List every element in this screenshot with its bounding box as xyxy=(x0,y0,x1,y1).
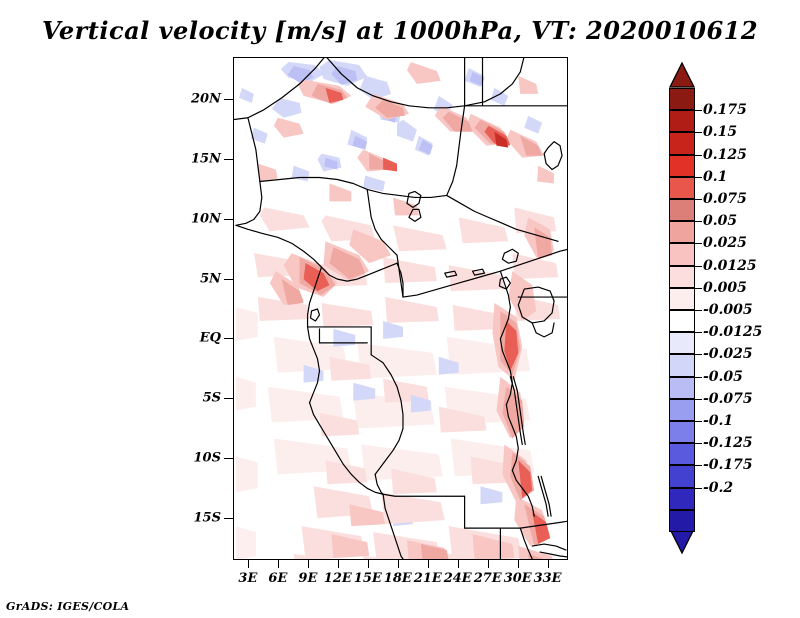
colorbar-arrow-top xyxy=(669,62,695,88)
colorbar-tick-13 xyxy=(695,399,702,400)
colorbar-label-11: -0.025 xyxy=(703,346,753,362)
x-label-27E: 27E xyxy=(474,571,502,586)
colorbar-tick-9 xyxy=(695,310,702,311)
y-tick-10S xyxy=(224,458,233,459)
colorbar-band-19 xyxy=(669,510,695,532)
x-label-9E: 9E xyxy=(298,571,317,586)
colorbar-label-6: 0.025 xyxy=(703,235,747,251)
x-label-15E: 15E xyxy=(354,571,382,586)
x-label-12E: 12E xyxy=(324,571,352,586)
colorbar-tick-2 xyxy=(695,155,702,156)
colorbar-tick-7 xyxy=(695,266,702,267)
colorbar-band-1 xyxy=(669,110,695,132)
x-tick-12E xyxy=(338,560,339,568)
colorbar-band-18 xyxy=(669,488,695,510)
y-label-15S: 15S xyxy=(194,511,221,526)
x-tick-18E xyxy=(398,560,399,568)
x-tick-27E xyxy=(488,560,489,568)
x-tick-21E xyxy=(428,560,429,568)
colorbar-band-17 xyxy=(669,465,695,487)
colorbar-band-7 xyxy=(669,243,695,265)
colorbar-band-13 xyxy=(669,377,695,399)
colorbar-band-8 xyxy=(669,266,695,288)
y-tick-5N xyxy=(224,279,233,280)
colorbar-band-4 xyxy=(669,177,695,199)
y-tick-10N xyxy=(224,219,233,220)
colorbar-label-4: 0.075 xyxy=(703,191,747,207)
colorbar-label-7: 0.0125 xyxy=(703,258,757,274)
map-plot: 20N 15N 10N 5N EQ 5S 10S 15S 3E 6E 9E 12… xyxy=(233,57,568,560)
colorbar-label-12: -0.05 xyxy=(703,369,743,385)
colorbar-label-10: -0.0125 xyxy=(703,324,762,340)
colorbar-label-5: 0.05 xyxy=(703,213,737,229)
x-tick-3E xyxy=(248,560,249,568)
colorbar: 0.1750.150.1250.10.0750.050.0250.01250.0… xyxy=(669,62,695,554)
x-tick-15E xyxy=(368,560,369,568)
colorbar-tick-6 xyxy=(695,243,702,244)
colorbar-band-15 xyxy=(669,421,695,443)
colorbar-band-16 xyxy=(669,443,695,465)
colorbar-tick-4 xyxy=(695,199,702,200)
colorbar-label-0: 0.175 xyxy=(703,102,747,118)
grads-attribution: GrADS: IGES/COLA xyxy=(6,600,129,613)
colorbar-label-14: -0.1 xyxy=(703,413,733,429)
y-label-EQ: EQ xyxy=(200,331,221,346)
y-label-5S: 5S xyxy=(203,391,221,406)
colorbar-label-8: 0.005 xyxy=(703,280,747,296)
colorbar-tick-16 xyxy=(695,465,702,466)
colorbar-tick-12 xyxy=(695,377,702,378)
x-tick-33E xyxy=(548,560,549,568)
x-tick-9E xyxy=(308,560,309,568)
y-tick-20N xyxy=(224,99,233,100)
page-title: Vertical velocity [m/s] at 1000hPa, VT: … xyxy=(0,16,800,45)
y-label-15N: 15N xyxy=(191,151,221,166)
x-label-24E: 24E xyxy=(444,571,472,586)
colorbar-band-0 xyxy=(669,88,695,110)
x-label-3E: 3E xyxy=(238,571,257,586)
y-tick-15N xyxy=(224,159,233,160)
y-label-10S: 10S xyxy=(194,451,221,466)
x-label-6E: 6E xyxy=(268,571,287,586)
x-tick-6E xyxy=(278,560,279,568)
colorbar-tick-8 xyxy=(695,288,702,289)
x-label-21E: 21E xyxy=(414,571,442,586)
colorbar-tick-5 xyxy=(695,221,702,222)
map-frame xyxy=(233,57,568,560)
x-tick-24E xyxy=(458,560,459,568)
colorbar-label-15: -0.125 xyxy=(703,435,753,451)
colorbar-tick-0 xyxy=(695,110,702,111)
colorbar-tick-17 xyxy=(695,488,702,489)
colorbar-label-3: 0.1 xyxy=(703,169,727,185)
colorbar-tick-14 xyxy=(695,421,702,422)
x-label-33E: 33E xyxy=(534,571,562,586)
colorbar-band-12 xyxy=(669,354,695,376)
colorbar-label-9: -0.005 xyxy=(703,302,753,318)
colorbar-tick-3 xyxy=(695,177,702,178)
colorbar-band-10 xyxy=(669,310,695,332)
colorbar-label-16: -0.175 xyxy=(703,457,753,473)
y-label-5N: 5N xyxy=(200,271,221,286)
y-label-20N: 20N xyxy=(191,92,221,107)
coastline-and-borders xyxy=(234,58,567,559)
y-tick-15S xyxy=(224,518,233,519)
colorbar-band-11 xyxy=(669,332,695,354)
colorbar-tick-10 xyxy=(695,332,702,333)
colorbar-band-14 xyxy=(669,399,695,421)
x-label-30E: 30E xyxy=(504,571,532,586)
colorbar-tick-15 xyxy=(695,443,702,444)
y-tick-EQ xyxy=(224,338,233,339)
colorbar-band-9 xyxy=(669,288,695,310)
colorbar-label-13: -0.075 xyxy=(703,391,753,407)
colorbar-label-17: -0.2 xyxy=(703,480,733,496)
colorbar-band-3 xyxy=(669,155,695,177)
x-tick-30E xyxy=(518,560,519,568)
x-label-18E: 18E xyxy=(384,571,412,586)
colorbar-tick-1 xyxy=(695,132,702,133)
colorbar-tick-11 xyxy=(695,354,702,355)
colorbar-band-5 xyxy=(669,199,695,221)
colorbar-label-2: 0.125 xyxy=(703,147,747,163)
y-tick-5S xyxy=(224,398,233,399)
colorbar-band-6 xyxy=(669,221,695,243)
colorbar-band-2 xyxy=(669,132,695,154)
colorbar-label-1: 0.15 xyxy=(703,124,737,140)
y-label-10N: 10N xyxy=(191,211,221,226)
